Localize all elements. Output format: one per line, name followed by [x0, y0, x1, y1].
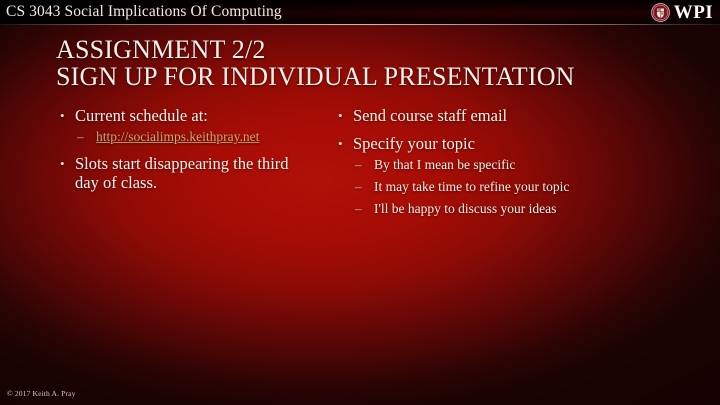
- list-item: – By that I mean be specific: [353, 156, 648, 173]
- dash-marker-icon: –: [77, 128, 84, 145]
- sub-bullet-list: – http://socialimps.keithpray.net: [75, 128, 310, 145]
- bullet-marker-icon: •: [338, 106, 343, 125]
- content-columns: • Current schedule at: – http://socialim…: [0, 106, 720, 226]
- list-item: – http://socialimps.keithpray.net: [75, 128, 310, 145]
- bullet-text: Specify your topic: [353, 134, 475, 153]
- slide-canvas: CS 3043 Social Implications Of Computing…: [0, 0, 720, 405]
- slide-title-line-1: ASSIGNMENT 2/2: [56, 36, 676, 63]
- dash-marker-icon: –: [355, 178, 362, 195]
- bullet-marker-icon: •: [60, 154, 65, 173]
- list-item: • Slots start disappearing the third day…: [58, 154, 310, 192]
- sub-bullet-text: It may take time to refine your topic: [374, 179, 569, 194]
- bullet-marker-icon: •: [60, 106, 65, 125]
- bullet-text: Slots start disappearing the third day o…: [75, 154, 289, 192]
- wpi-brand: WPI: [651, 1, 713, 24]
- list-item: • Send course staff email: [336, 106, 648, 125]
- sub-bullet-text: I'll be happy to discuss your ideas: [374, 201, 556, 216]
- list-item: – It may take time to refine your topic: [353, 178, 648, 195]
- left-column: • Current schedule at: – http://socialim…: [0, 106, 318, 226]
- dash-marker-icon: –: [355, 156, 362, 173]
- wpi-seal-icon: [651, 3, 670, 22]
- right-bullet-list: • Send course staff email • Specify your…: [336, 106, 648, 217]
- left-bullet-list: • Current schedule at: – http://socialim…: [58, 106, 310, 192]
- sub-bullet-list: – By that I mean be specific – It may ta…: [353, 156, 648, 217]
- copyright-footer: © 2017 Keith A. Pray: [7, 389, 76, 399]
- sub-bullet-text: By that I mean be specific: [374, 157, 515, 172]
- list-item: • Current schedule at: – http://socialim…: [58, 106, 310, 145]
- bullet-text: Send course staff email: [353, 106, 507, 125]
- list-item: – I'll be happy to discuss your ideas: [353, 200, 648, 217]
- dash-marker-icon: –: [355, 200, 362, 217]
- bullet-marker-icon: •: [338, 134, 343, 153]
- list-item: • Specify your topic – By that I mean be…: [336, 134, 648, 217]
- course-title: CS 3043 Social Implications Of Computing: [6, 1, 282, 23]
- slide-title: ASSIGNMENT 2/2 SIGN UP FOR INDIVIDUAL PR…: [56, 36, 676, 90]
- wpi-wordmark: WPI: [674, 3, 713, 22]
- right-column: • Send course staff email • Specify your…: [318, 106, 658, 226]
- schedule-link[interactable]: http://socialimps.keithpray.net: [96, 129, 259, 144]
- slide-title-line-2: SIGN UP FOR INDIVIDUAL PRESENTATION: [56, 63, 676, 90]
- bullet-text: Current schedule at:: [75, 106, 208, 125]
